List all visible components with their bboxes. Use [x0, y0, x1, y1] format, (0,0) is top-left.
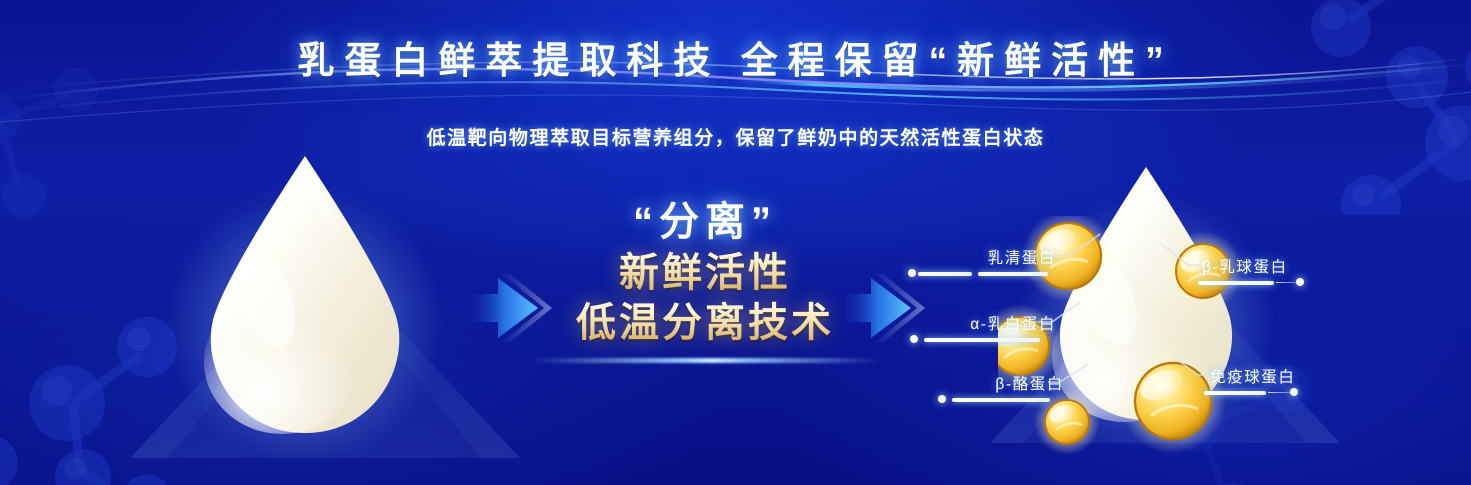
callout-bar: [1204, 391, 1266, 395]
callout-bar: [1198, 281, 1274, 285]
callout-lead-line: [1038, 296, 1084, 330]
callout-dot: [1290, 388, 1298, 396]
callout-thin-line: [1268, 392, 1292, 393]
callout-label-beta-lactoglobulin: β-乳球蛋白: [1196, 255, 1356, 277]
banner-title: 乳蛋白鲜萃提取科技 全程保留“新鲜活性”: [0, 30, 1471, 84]
callout-dot: [910, 335, 918, 343]
callout-label-whey-protein: 乳清蛋白: [908, 246, 1060, 268]
callout-beta-casein: β-酪蛋白: [926, 372, 1068, 404]
callout-label-beta-casein: β-酪蛋白: [926, 372, 1068, 394]
callout-lead-line: [1156, 239, 1202, 273]
callout-lead-line: [1046, 230, 1106, 264]
callout-bar: [918, 272, 972, 276]
callout-connector-whey-protein: [908, 268, 1060, 278]
callout-bar: [978, 272, 1048, 276]
callout-connector-alpha-lactalbumin: [898, 334, 1060, 344]
center-underline: [530, 358, 880, 363]
center-gold-line-2: 低温分离技术: [520, 298, 890, 348]
callout-whey-protein: 乳清蛋白: [908, 246, 1060, 278]
callout-bar: [924, 338, 1040, 342]
callout-thin-line: [1276, 282, 1298, 283]
callout-label-alpha-lactalbumin: α-乳白蛋白: [898, 312, 1060, 334]
callout-connector-beta-casein: [926, 394, 1068, 404]
callout-immunoglobulin: 免疫球蛋白: [1204, 365, 1364, 397]
center-gold-line-1: 新鲜活性: [520, 248, 890, 298]
promotional-banner: 乳蛋白鲜萃提取科技 全程保留“新鲜活性” 低温靶向物理萃取目标营养组分，保留了鲜…: [0, 0, 1471, 485]
callout-dot: [908, 269, 916, 277]
callout-connector-immunoglobulin: [1204, 387, 1364, 397]
callout-dot: [1296, 278, 1304, 286]
callout-label-immunoglobulin: 免疫球蛋白: [1204, 365, 1364, 387]
center-text-block: “分离” 新鲜活性 低温分离技术: [520, 196, 890, 363]
banner-subtitle: 低温靶向物理萃取目标营养组分，保留了鲜奶中的天然活性蛋白状态: [0, 123, 1471, 150]
callout-connector-beta-lactoglobulin: [1196, 277, 1356, 287]
callout-lead-line: [1048, 356, 1094, 390]
left-milk-droplet: [190, 150, 420, 450]
callout-lead-line: [1168, 351, 1212, 383]
center-quote-line: “分离”: [520, 196, 890, 248]
callout-dot: [938, 395, 946, 403]
callout-beta-lactoglobulin: β-乳球蛋白: [1196, 255, 1356, 287]
callout-alpha-lactalbumin: α-乳白蛋白: [898, 312, 1060, 344]
callout-bar: [952, 398, 1050, 402]
